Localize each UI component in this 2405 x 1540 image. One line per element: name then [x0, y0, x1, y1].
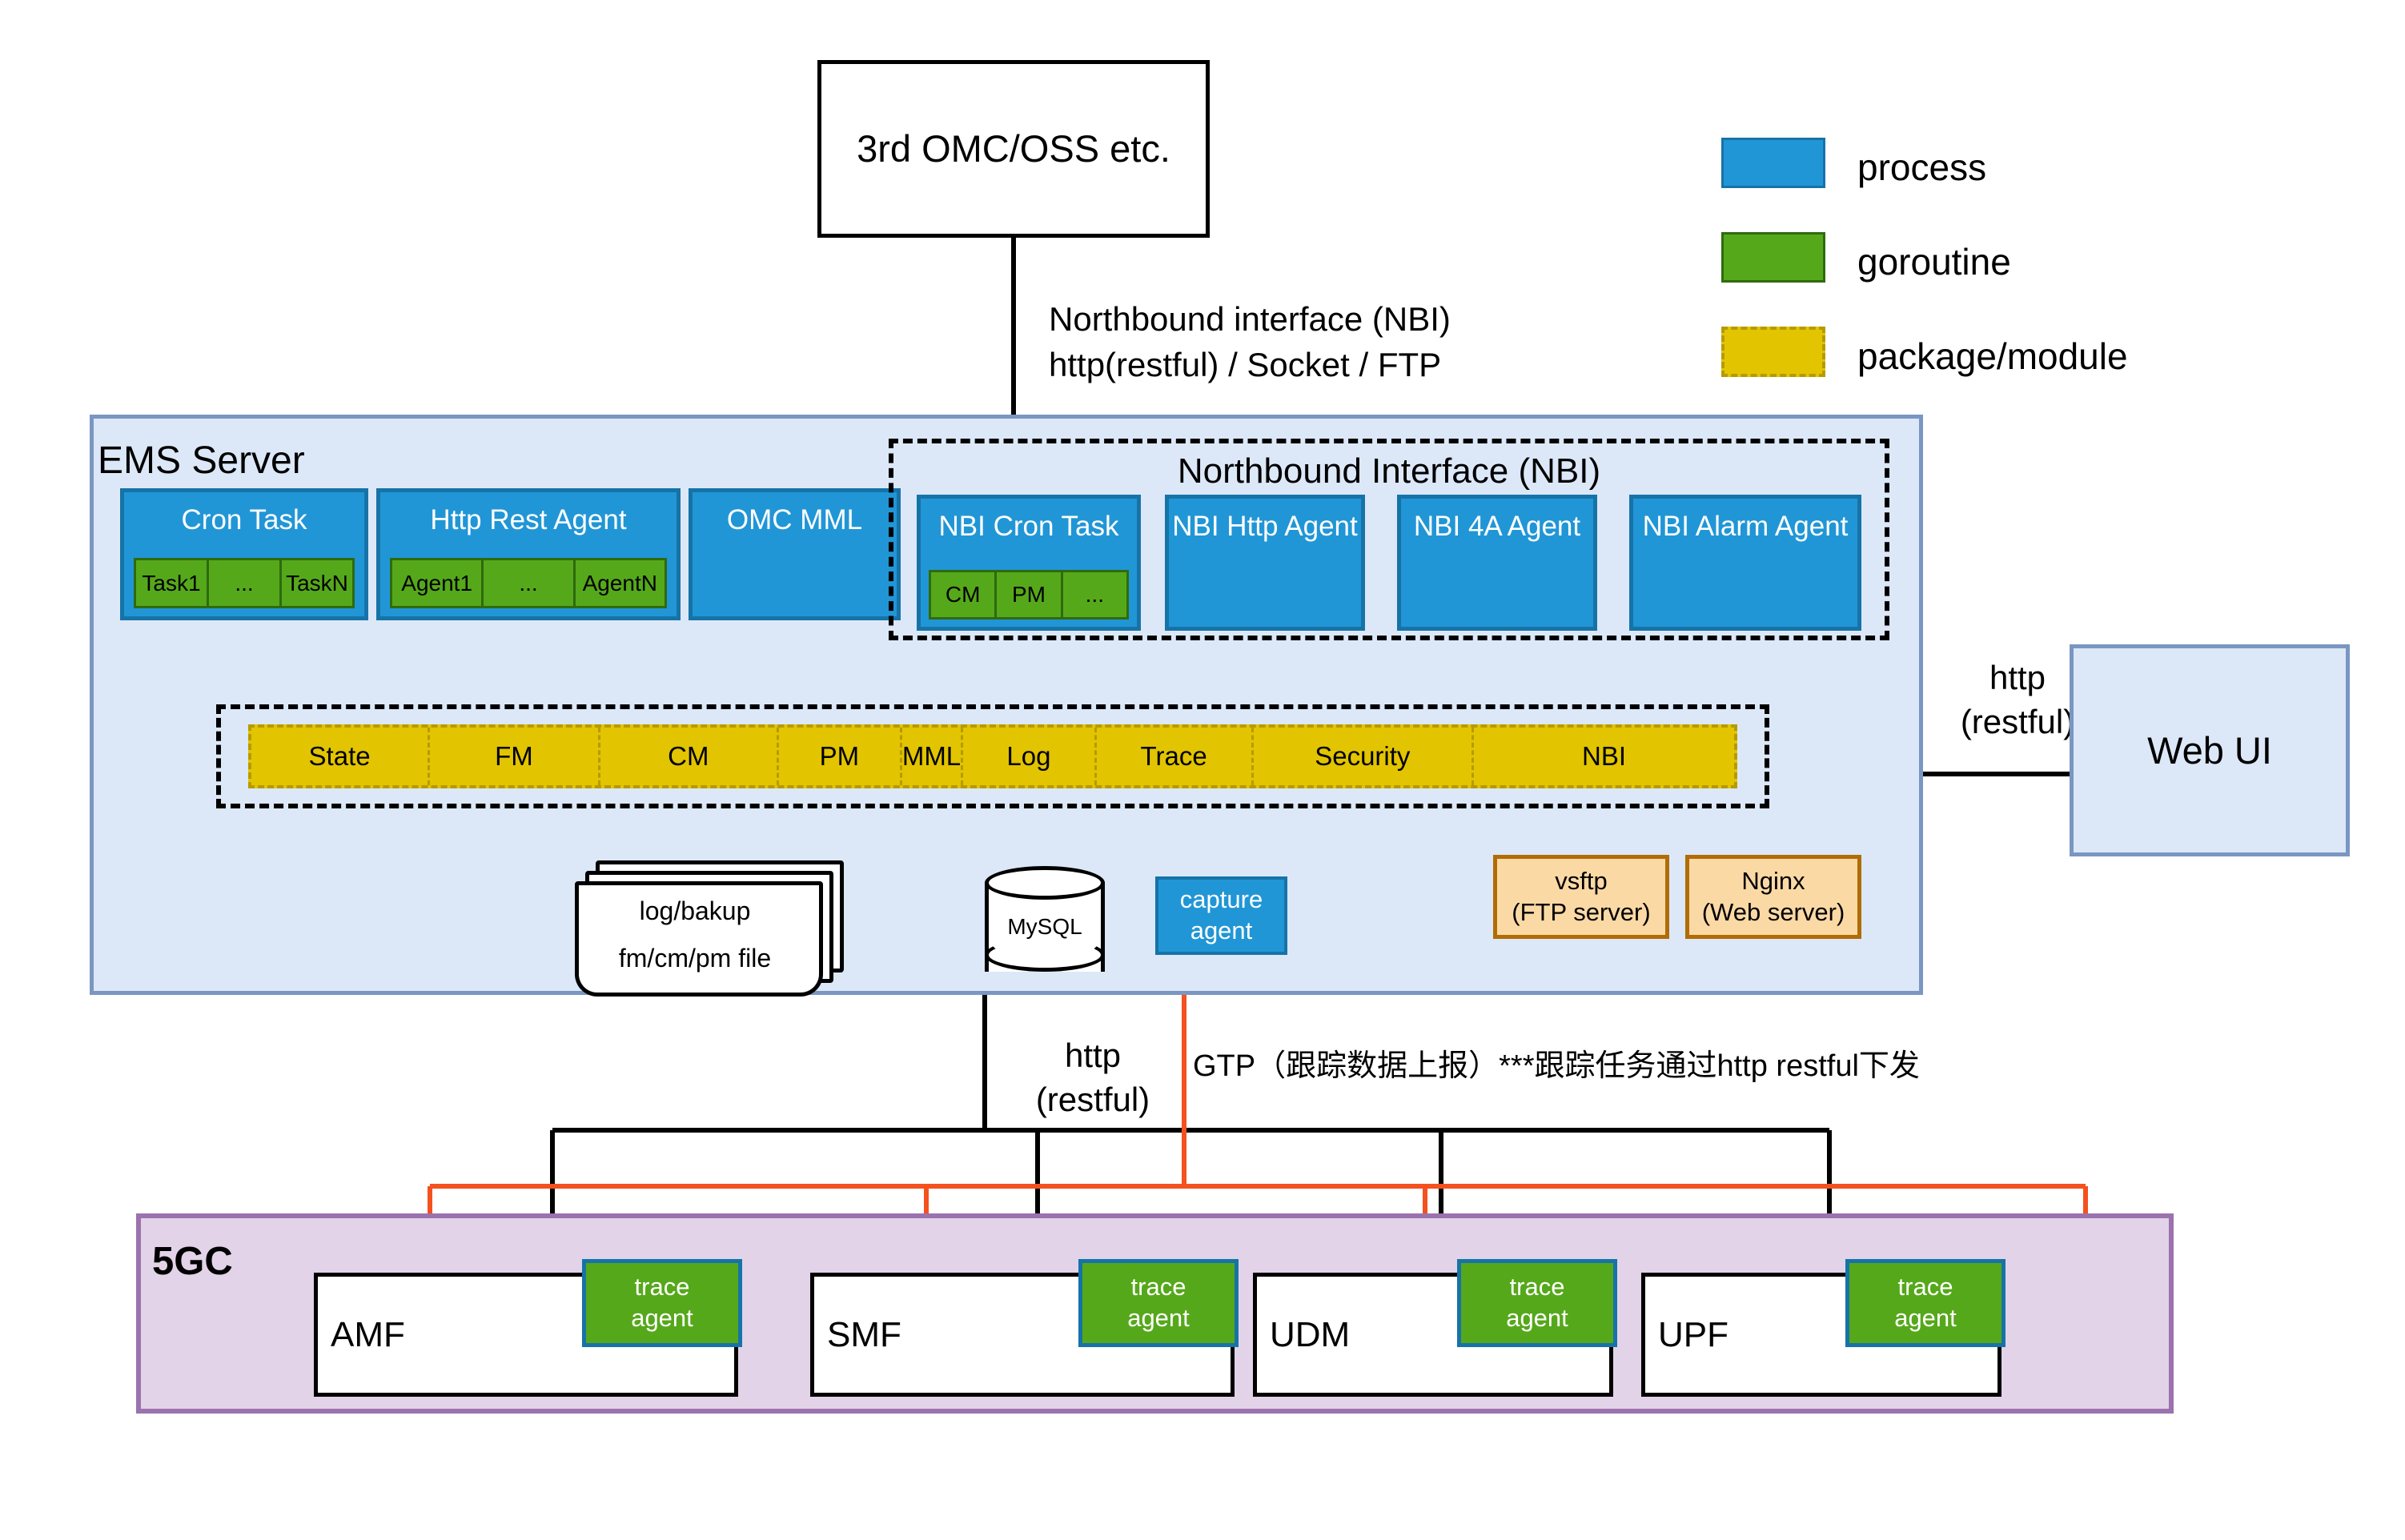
goroutine-strip-nbi-cron-task: CM PM ... [929, 570, 1129, 620]
network-function-upf[interactable]: UPF trace agent [1641, 1273, 2001, 1397]
capture-agent-line1: capture [1180, 884, 1263, 916]
trace-agent-smf-line1: trace [1131, 1272, 1186, 1303]
northbound-link-line2: http(restful) / Socket / FTP [1049, 342, 1561, 387]
process-capture-agent[interactable]: capture agent [1155, 876, 1287, 955]
mysql-label: MySQL [985, 866, 1105, 988]
legend-label-goroutine: goroutine [1857, 240, 2011, 283]
third-party-omc-oss-box: 3rd OMC/OSS etc. [817, 60, 1210, 238]
vsftp-line2: (FTP server) [1512, 897, 1650, 928]
process-omc-mml[interactable]: OMC MML [689, 488, 901, 620]
southbound-http-line2: (restful) [1021, 1078, 1165, 1122]
process-http-rest-agent[interactable]: Http Rest Agent Agent1 ... AgentN [376, 488, 681, 620]
log-backup-file-stack: log/bakup fm/cm/pm file [575, 860, 839, 989]
third-party-label: 3rd OMC/OSS etc. [857, 126, 1170, 170]
log-backup-line1: log/bakup [640, 896, 751, 926]
network-function-smf[interactable]: SMF trace agent [810, 1273, 1235, 1397]
trace-agent-upf[interactable]: trace agent [1845, 1259, 2006, 1347]
process-nbi-4a-agent[interactable]: NBI 4A Agent [1397, 495, 1597, 631]
legend-label-package-module: package/module [1857, 335, 2128, 378]
nginx-server-box[interactable]: Nginx (Web server) [1685, 855, 1861, 939]
trace-agent-upf-line1: trace [1898, 1272, 1953, 1303]
goroutine-agent1[interactable]: Agent1 [392, 560, 484, 606]
legend-swatch-goroutine [1721, 232, 1825, 283]
goroutine-pm[interactable]: PM [997, 572, 1062, 617]
web-ui-link-label: http (restful) [1953, 656, 2082, 744]
goroutine-taskn[interactable]: TaskN [282, 560, 352, 606]
trace-agent-smf-line2: agent [1127, 1303, 1190, 1334]
process-cron-task[interactable]: Cron Task Task1 ... TaskN [120, 488, 368, 620]
goroutine-nbi-ellipsis[interactable]: ... [1063, 572, 1126, 617]
log-backup-labels: log/bakup fm/cm/pm file [575, 881, 815, 989]
goroutine-strip-cron-task: Task1 ... TaskN [134, 558, 355, 608]
trace-agent-amf[interactable]: trace agent [582, 1259, 742, 1347]
module-pm[interactable]: PM [779, 728, 902, 785]
network-function-smf-label: SMF [827, 1315, 901, 1355]
web-ui-link-line2: (restful) [1953, 700, 2082, 744]
trace-agent-udm-line1: trace [1510, 1272, 1565, 1303]
web-ui-box[interactable]: Web UI [2070, 644, 2350, 856]
process-nbi-cron-task-title: NBI Cron Task [921, 510, 1137, 544]
goroutine-agent-ellipsis[interactable]: ... [484, 560, 575, 606]
goroutine-cm[interactable]: CM [931, 572, 997, 617]
process-cron-task-title: Cron Task [124, 503, 364, 538]
gtp-trace-label: GTP（跟踪数据上报）***跟踪任务通过http restful下发 [1193, 1041, 1920, 1085]
northbound-link-label: Northbound interface (NBI) http(restful)… [1049, 296, 1561, 387]
southbound-http-label: http (restful) [1021, 1034, 1165, 1121]
module-mml[interactable]: MML [902, 728, 963, 785]
nginx-line1: Nginx [1741, 866, 1805, 897]
process-nbi-http-agent-title: NBI Http Agent [1169, 510, 1361, 544]
goroutine-task-ellipsis[interactable]: ... [209, 560, 282, 606]
ems-server-title: EMS Server [98, 439, 305, 483]
trace-agent-udm-line2: agent [1506, 1303, 1568, 1334]
northbound-link-line1: Northbound interface (NBI) [1049, 296, 1561, 342]
module-fm[interactable]: FM [430, 728, 600, 785]
trace-agent-smf[interactable]: trace agent [1078, 1259, 1239, 1347]
diagram-canvas: 3rd OMC/OSS etc. Northbound interface (N… [0, 0, 2405, 1540]
module-log[interactable]: Log [963, 728, 1097, 785]
nginx-line2: (Web server) [1702, 897, 1845, 928]
vsftp-server-box[interactable]: vsftp (FTP server) [1493, 855, 1669, 939]
trace-agent-udm[interactable]: trace agent [1457, 1259, 1617, 1347]
core-network-5gc-title: 5GC [152, 1239, 233, 1284]
southbound-http-line1: http [1021, 1034, 1165, 1078]
network-function-amf-label: AMF [331, 1315, 405, 1355]
web-ui-link-line1: http [1953, 656, 2082, 700]
legend-label-process: process [1857, 146, 1986, 189]
log-backup-line2: fm/cm/pm file [619, 944, 771, 973]
process-nbi-http-agent[interactable]: NBI Http Agent [1165, 495, 1365, 631]
module-trace[interactable]: Trace [1097, 728, 1254, 785]
process-omc-mml-title: OMC MML [693, 503, 897, 538]
trace-agent-amf-line1: trace [635, 1272, 690, 1303]
goroutine-agentn[interactable]: AgentN [576, 560, 664, 606]
network-function-udm[interactable]: UDM trace agent [1253, 1273, 1613, 1397]
trace-agent-amf-line2: agent [631, 1303, 693, 1334]
legend-swatch-package-module [1721, 327, 1825, 377]
northbound-interface-group-title: Northbound Interface (NBI) [893, 451, 1885, 491]
capture-agent-line2: agent [1190, 916, 1253, 947]
process-nbi-4a-agent-title: NBI 4A Agent [1401, 510, 1593, 544]
module-security[interactable]: Security [1254, 728, 1475, 785]
module-cm[interactable]: CM [600, 728, 779, 785]
module-bar: State FM CM PM MML Log Trace Security NB… [248, 724, 1737, 788]
process-nbi-alarm-agent-title: NBI Alarm Agent [1633, 510, 1857, 544]
process-nbi-cron-task[interactable]: NBI Cron Task CM PM ... [917, 495, 1141, 631]
legend-swatch-process [1721, 138, 1825, 188]
web-ui-label: Web UI [2147, 728, 2272, 772]
process-nbi-alarm-agent[interactable]: NBI Alarm Agent [1629, 495, 1861, 631]
trace-agent-upf-line2: agent [1894, 1303, 1957, 1334]
module-nbi[interactable]: NBI [1474, 728, 1734, 785]
network-function-amf[interactable]: AMF trace agent [314, 1273, 738, 1397]
network-function-upf-label: UPF [1658, 1315, 1728, 1355]
goroutine-strip-http-rest-agent: Agent1 ... AgentN [390, 558, 667, 608]
vsftp-line1: vsftp [1555, 866, 1607, 897]
mysql-database-cylinder: MySQL [985, 866, 1105, 988]
process-http-rest-agent-title: Http Rest Agent [380, 503, 677, 538]
network-function-udm-label: UDM [1270, 1315, 1350, 1355]
module-state[interactable]: State [251, 728, 430, 785]
goroutine-task1[interactable]: Task1 [136, 560, 209, 606]
